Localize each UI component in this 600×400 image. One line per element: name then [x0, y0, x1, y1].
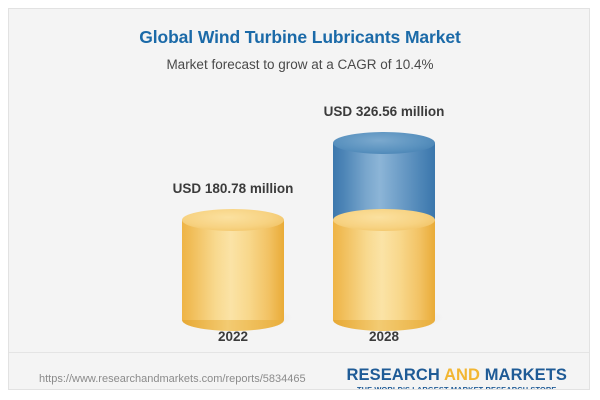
logo-word-research: RESEARCH [346, 366, 439, 384]
value-label-2028: USD 326.56 million [269, 104, 499, 119]
category-label-2028: 2028 [304, 329, 464, 344]
footer-divider [9, 352, 590, 353]
value-label-2022: USD 180.78 million [118, 181, 348, 196]
bar-chart-plot: USD 180.78 million 2022 USD 326.56 milli… [9, 9, 590, 353]
logo-word-markets: MARKETS [485, 366, 567, 384]
logo-word-and-text: AND [444, 366, 480, 384]
bar-2022-top-ellipse [182, 209, 284, 231]
bar-2022-body [182, 220, 284, 320]
bar-2028[interactable] [333, 132, 435, 320]
category-label-2022: 2022 [153, 329, 313, 344]
chart-card: Global Wind Turbine Lubricants Market Ma… [8, 8, 590, 390]
bar-2028-base-segment [333, 220, 435, 320]
report-url[interactable]: https://www.researchandmarkets.com/repor… [39, 373, 306, 385]
logo-wordmark: RESEARCH AND MARKETS [346, 367, 567, 384]
bar-2028-segment-divider-ellipse [333, 209, 435, 231]
bar-2022[interactable] [182, 209, 284, 320]
logo-tagline: THE WORLD'S LARGEST MARKET RESEARCH STOR… [346, 385, 567, 390]
bar-2028-top-ellipse [333, 132, 435, 154]
research-and-markets-logo[interactable]: RESEARCH AND MARKETS THE WORLD'S LARGEST… [346, 367, 567, 390]
